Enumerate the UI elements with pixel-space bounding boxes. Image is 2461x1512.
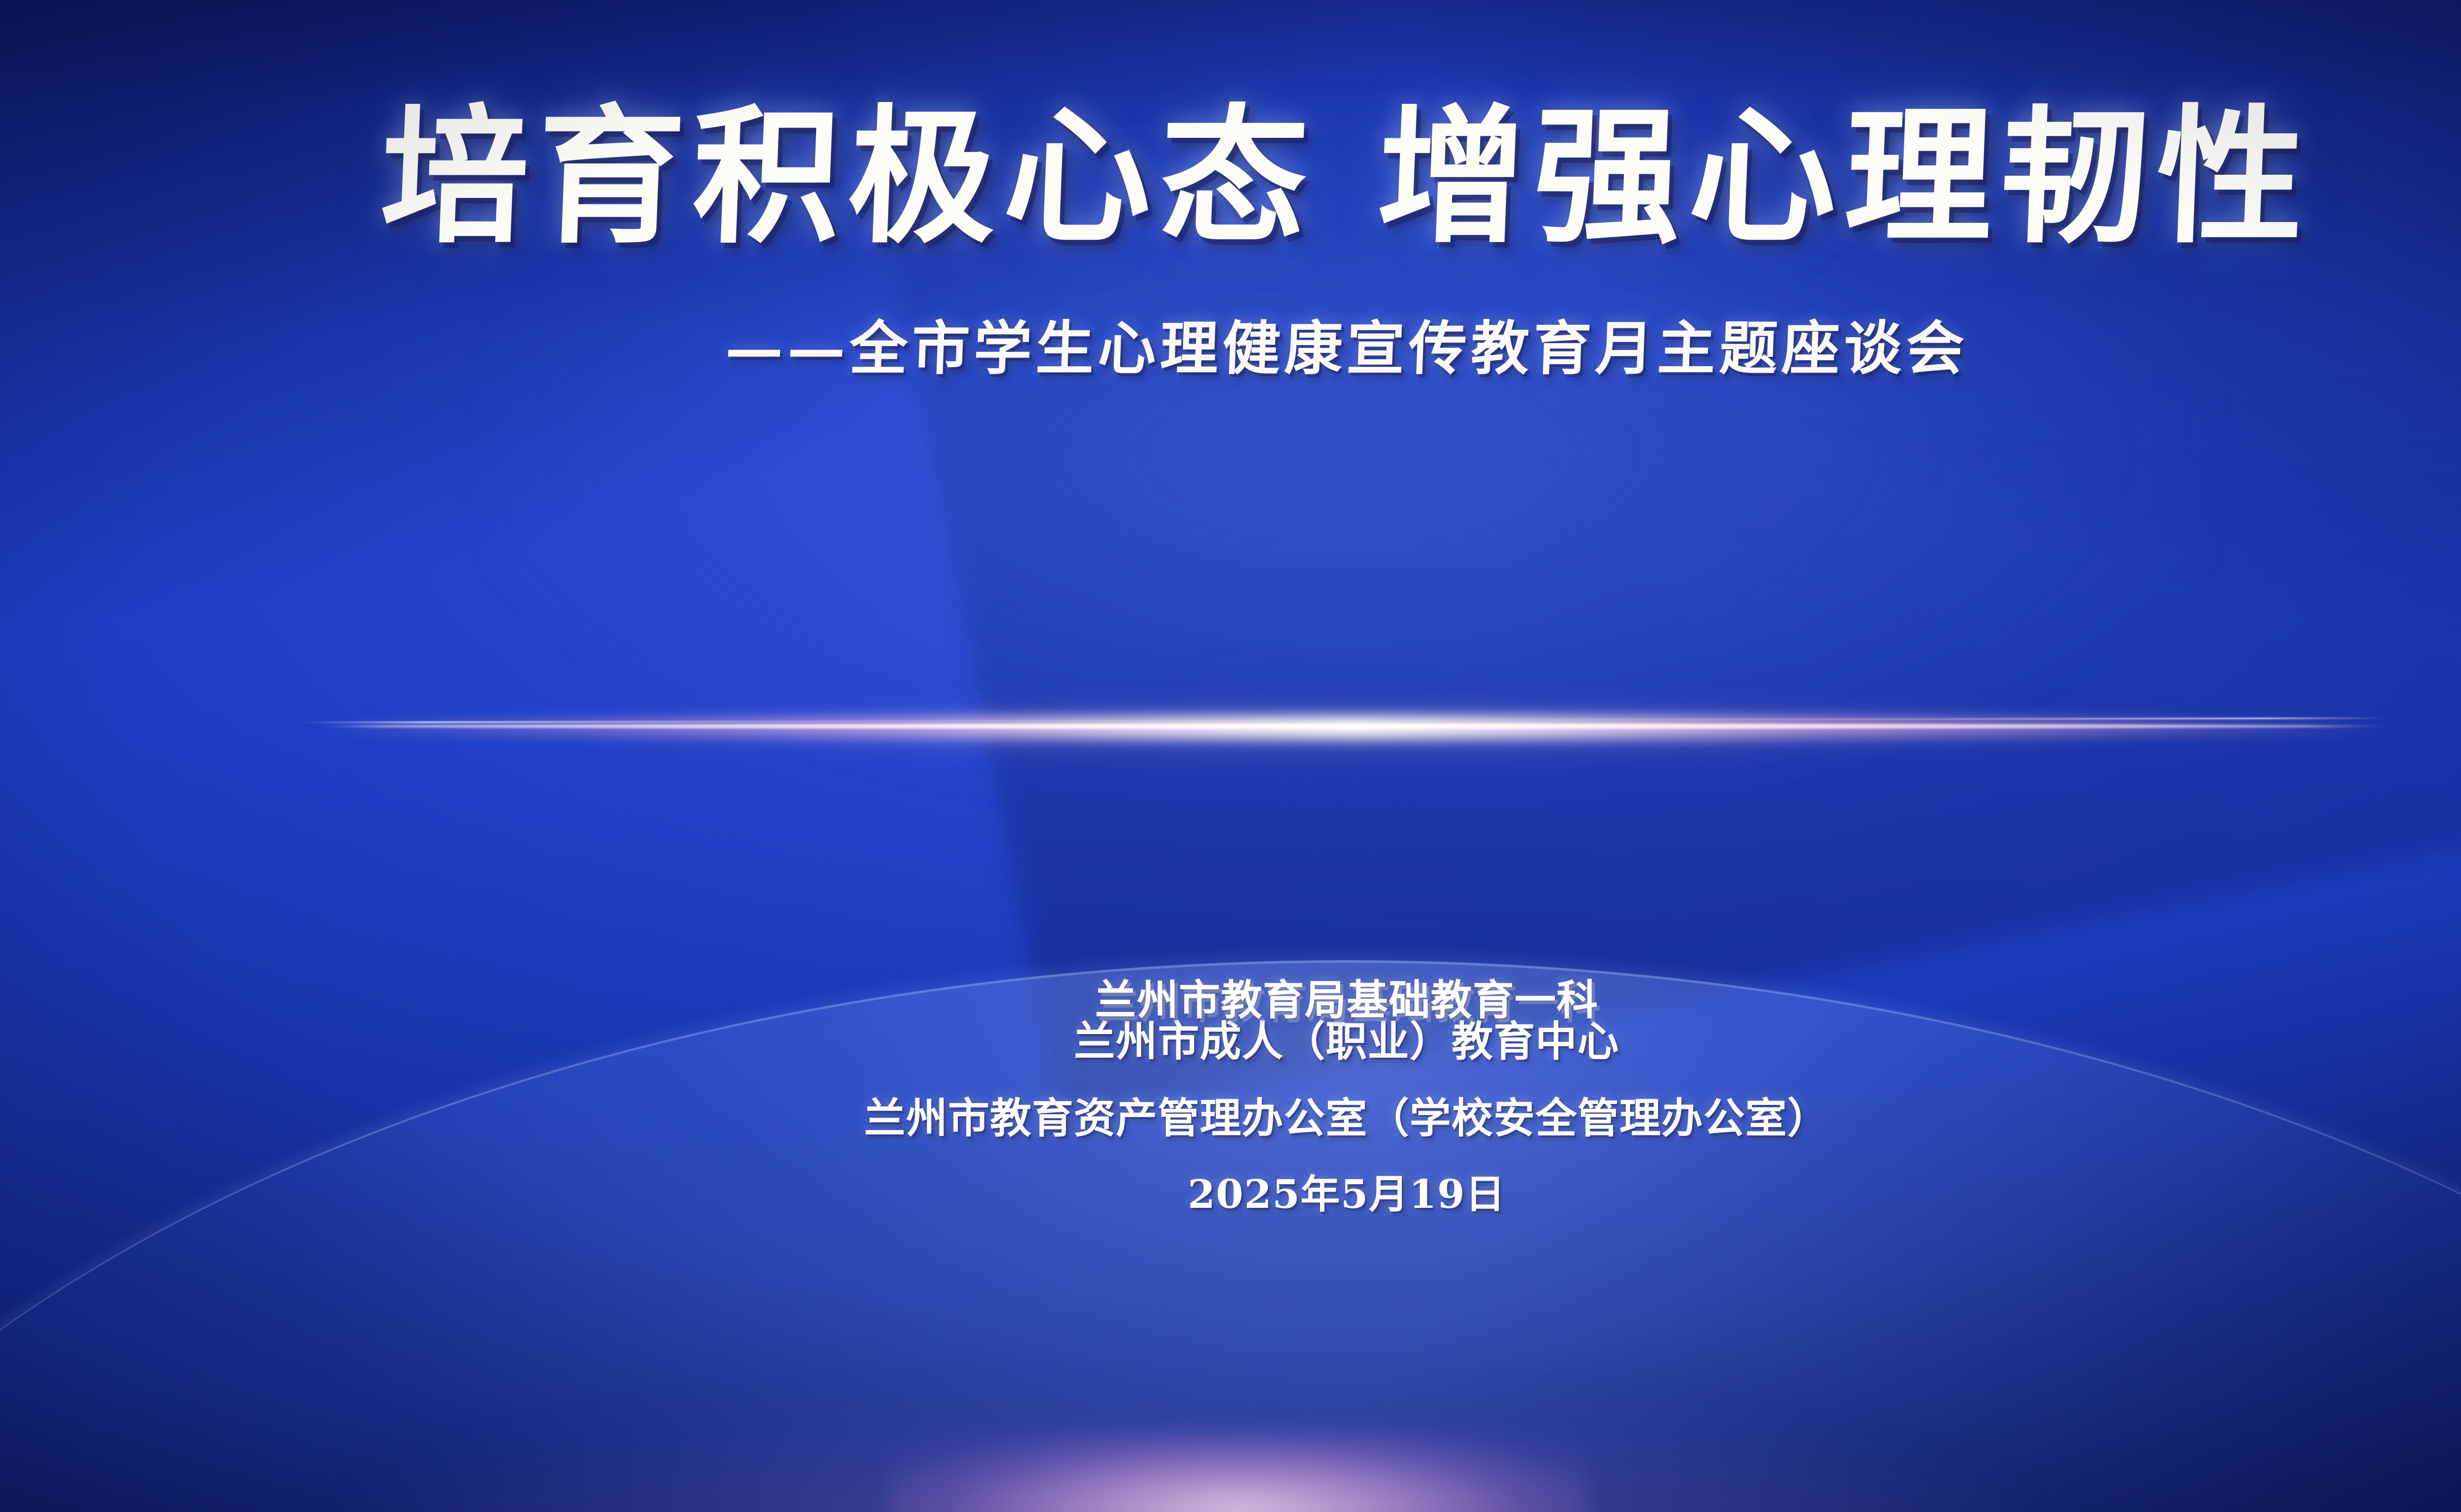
organizer-line-3: 兰州市教育资产管理办公室（学校安全管理办公室） xyxy=(0,1098,2461,1139)
title-block: 培育积极心态增强心理韧性 ——全市学生心理健康宣传教育月主题座谈会 xyxy=(0,91,2461,383)
backdrop-content: 培育积极心态增强心理韧性 ——全市学生心理健康宣传教育月主题座谈会 兰州市教育局… xyxy=(0,0,2461,1512)
subtitle: ——全市学生心理健康宣传教育月主题座谈会 xyxy=(0,314,2461,383)
event-date: 2025年5月19日 xyxy=(0,1174,2461,1214)
organizer-line-1-wrapper: 兰州市教育局基础教育一科 兰州市教育局基础教育一科 xyxy=(0,979,2461,1021)
organizer-block: 兰州市教育局基础教育一科 兰州市教育局基础教育一科 兰州市成人（职业）教育中心 … xyxy=(0,979,2461,1214)
main-title-part-2: 增强心理韧性 xyxy=(1374,90,2316,263)
divider xyxy=(0,698,2461,757)
event-backdrop-stage: 培育积极心态增强心理韧性 ——全市学生心理健康宣传教育月主题座谈会 兰州市教育局… xyxy=(0,0,2461,1512)
main-title: 培育积极心态增强心理韧性 xyxy=(0,91,2461,262)
divider-core xyxy=(318,724,2392,729)
main-title-part-1: 培育积极心态 xyxy=(378,90,1319,263)
organizer-line-1-ghost: 兰州市教育局基础教育一科 xyxy=(3,982,2461,1025)
